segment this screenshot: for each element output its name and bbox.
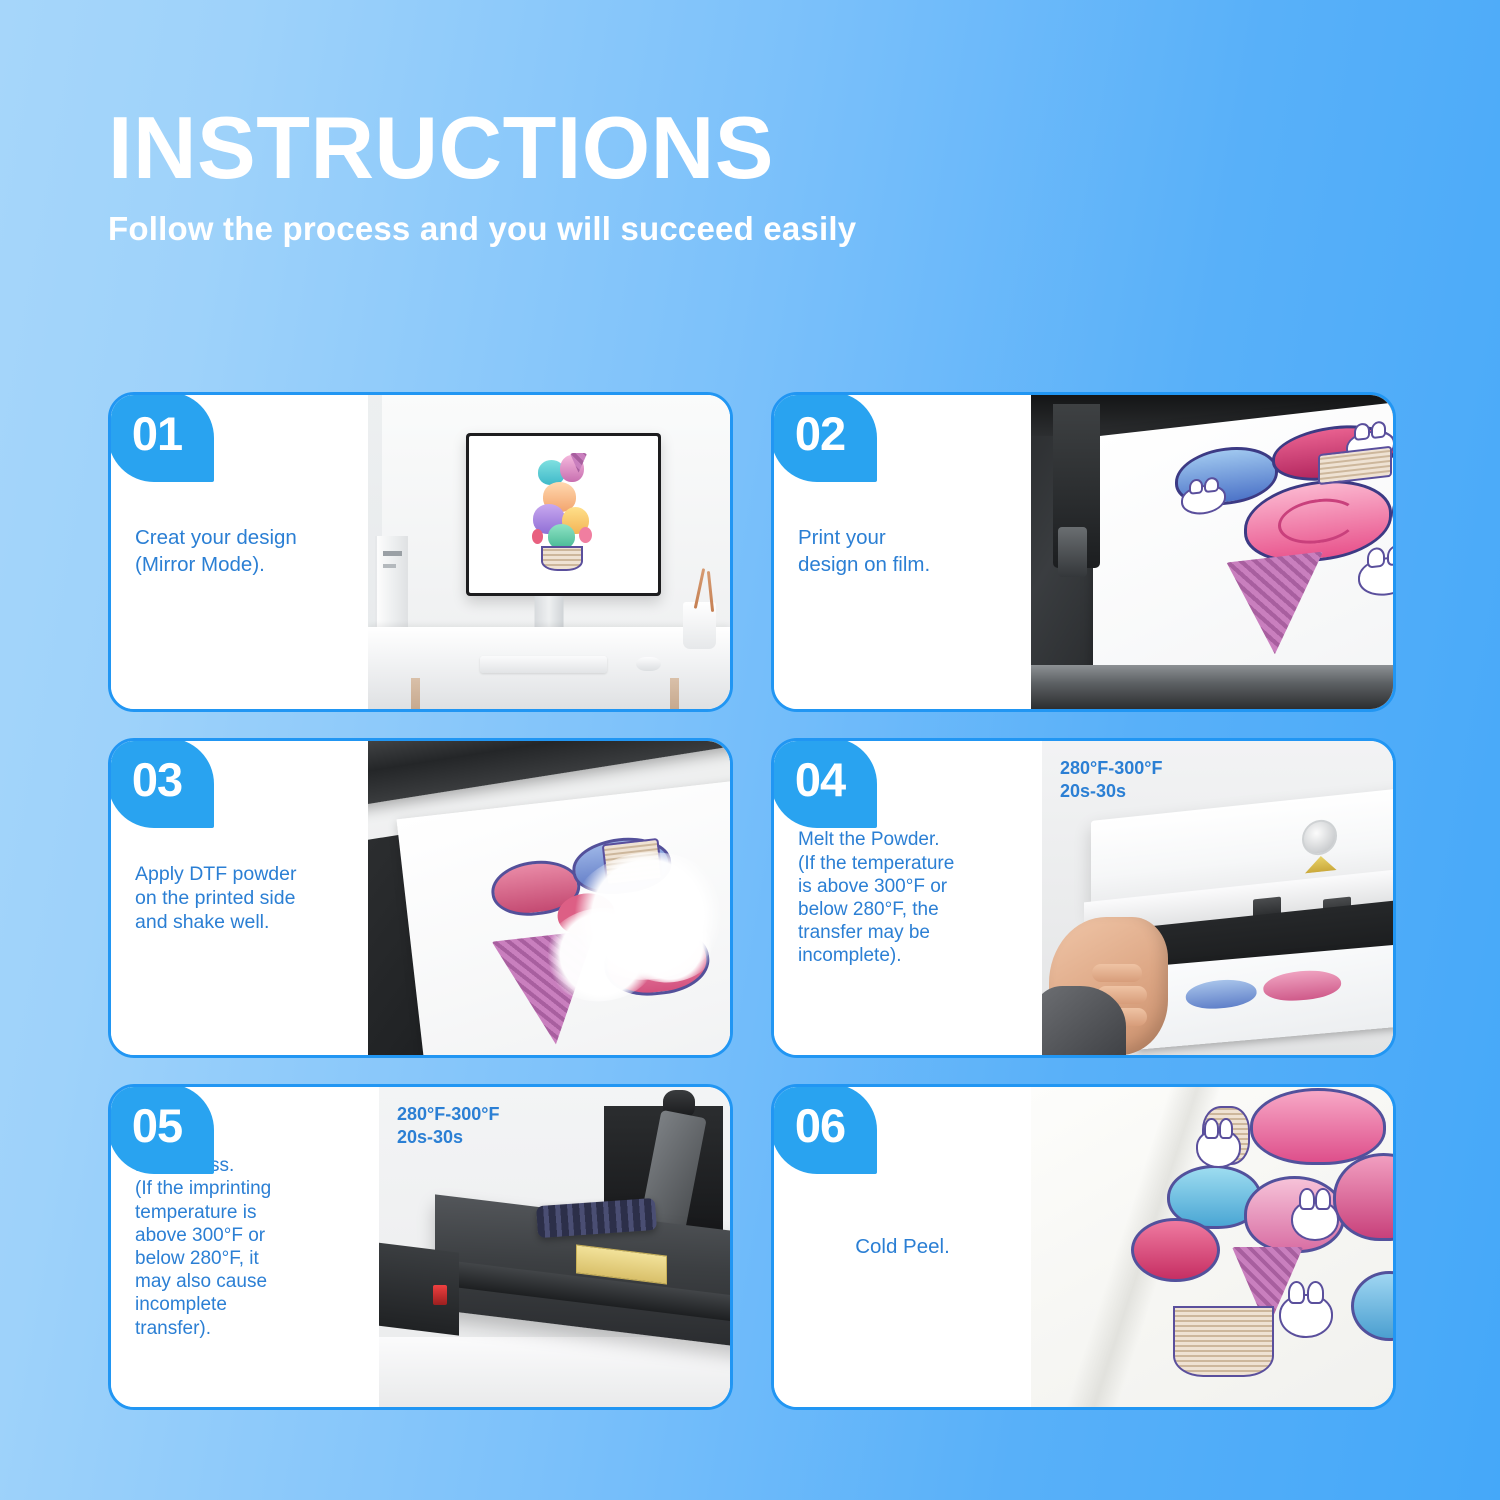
step-badge-02: 02 (771, 392, 877, 482)
printer-scene-image (1031, 395, 1393, 709)
drip-shape (1131, 1218, 1220, 1283)
mouse-icon (636, 657, 661, 671)
scoop-shape (1262, 967, 1342, 1003)
step-description-04: Melt the Powder. (If the temperature is … (774, 828, 1042, 967)
design-artwork-04 (1184, 962, 1365, 1029)
step-card-06[interactable]: 06 Cold Peel. (771, 1084, 1396, 1410)
book-label-top (383, 551, 402, 556)
step-card-03[interactable]: 03 Apply DTF powder on the printed side … (108, 738, 733, 1058)
desk-leg (411, 678, 420, 709)
cone-shape (1226, 551, 1323, 660)
printed-film-sheet (397, 778, 730, 1055)
scoop-shape (1185, 977, 1258, 1011)
step-card-02[interactable]: 02 Print your design on film. (771, 392, 1396, 712)
bunny-character (1279, 1294, 1332, 1338)
step-badge-04: 04 (771, 738, 877, 828)
step-description-06: Cold Peel. (774, 1234, 1031, 1261)
drip-shape (532, 529, 543, 544)
page-header: INSTRUCTIONS Follow the process and you … (108, 104, 856, 248)
step-badge-05: 05 (108, 1084, 214, 1174)
desk-leg (670, 678, 679, 709)
step-badge-03: 03 (108, 738, 214, 828)
page-title: INSTRUCTIONS (108, 104, 856, 192)
step-number-02: 02 (795, 410, 845, 457)
step-photo-02 (1031, 395, 1393, 709)
monitor-icon (466, 433, 661, 596)
step-number-05: 05 (132, 1102, 182, 1149)
powder-scene-image (368, 741, 730, 1055)
step-description-01: Creat your design (Mirror Mode). (111, 525, 368, 578)
design-artwork-06 (1125, 1100, 1393, 1394)
keyboard-icon (480, 656, 607, 673)
steps-grid: 01 Creat your design (Mirror Mode). (108, 392, 1396, 1410)
step-text-pane-01: 01 Creat your design (Mirror Mode). (111, 395, 368, 709)
step-text-pane-02: 02 Print your design on film. (774, 395, 1031, 709)
bunny-character (1196, 1129, 1241, 1167)
print-film-sheet (1093, 397, 1393, 700)
step-text-pane-06: 06 Cold Peel. (774, 1087, 1031, 1407)
temperature-overlay-05: 280°F-300°F 20s-30s (397, 1103, 499, 1150)
drip-shape (1351, 1271, 1393, 1342)
step-description-02: Print your design on film. (774, 525, 1031, 578)
step-photo-04: 280°F-300°F 20s-30s (1042, 741, 1393, 1055)
monitor-screen (469, 436, 658, 593)
step-photo-01 (368, 395, 730, 709)
design-artwork-01 (524, 453, 604, 576)
step-text-pane-05: 05 Heat Press. (If the imprinting temper… (111, 1087, 379, 1407)
step-card-01[interactable]: 01 Creat your design (Mirror Mode). (108, 392, 733, 712)
design-artwork-02 (1169, 417, 1393, 671)
step-photo-03 (368, 741, 730, 1055)
press-control-box (379, 1241, 460, 1335)
drip-shape (579, 527, 592, 543)
bunny-character (1291, 1200, 1338, 1241)
scoop-shape (548, 524, 575, 549)
cupcake-base-shape (1173, 1306, 1274, 1377)
monitor-neck (535, 596, 564, 631)
temperature-overlay-04: 280°F-300°F 20s-30s (1060, 757, 1162, 804)
step-number-01: 01 (132, 410, 182, 457)
desk-scene-image (368, 395, 730, 709)
drip-shape (1391, 479, 1393, 539)
step-number-06: 06 (795, 1102, 845, 1149)
cupcake-base-shape (541, 546, 582, 571)
bunny-character (1357, 554, 1393, 598)
step-number-04: 04 (795, 756, 845, 803)
page-subtitle: Follow the process and you will succeed … (108, 210, 856, 248)
step-text-pane-03: 03 Apply DTF powder on the printed side … (111, 741, 368, 1055)
tshirt-scene-image (1031, 1087, 1393, 1407)
step-text-pane-04: 04 Melt the Powder. (If the temperature … (774, 741, 1042, 1055)
step-photo-05: 280°F-300°F 20s-30s (379, 1087, 730, 1407)
power-switch-icon (433, 1285, 447, 1304)
step-badge-06: 06 (771, 1084, 877, 1174)
table-surface (379, 1337, 730, 1407)
step-card-04[interactable]: 04 Melt the Powder. (If the temperature … (771, 738, 1396, 1058)
step-card-05[interactable]: 05 Heat Press. (If the imprinting temper… (108, 1084, 733, 1410)
scoop-shape (1250, 1088, 1387, 1165)
finger-shape (1092, 964, 1142, 982)
step-number-03: 03 (132, 756, 182, 803)
printer-roller (1058, 527, 1087, 577)
step-photo-06 (1031, 1087, 1393, 1407)
step-badge-01: 01 (108, 392, 214, 482)
step-description-03: Apply DTF powder on the printed side and… (111, 862, 368, 935)
step-description-05: Heat Press. (If the imprinting temperatu… (111, 1154, 379, 1339)
book-label-bottom (383, 564, 396, 568)
printer-base (1031, 665, 1393, 709)
